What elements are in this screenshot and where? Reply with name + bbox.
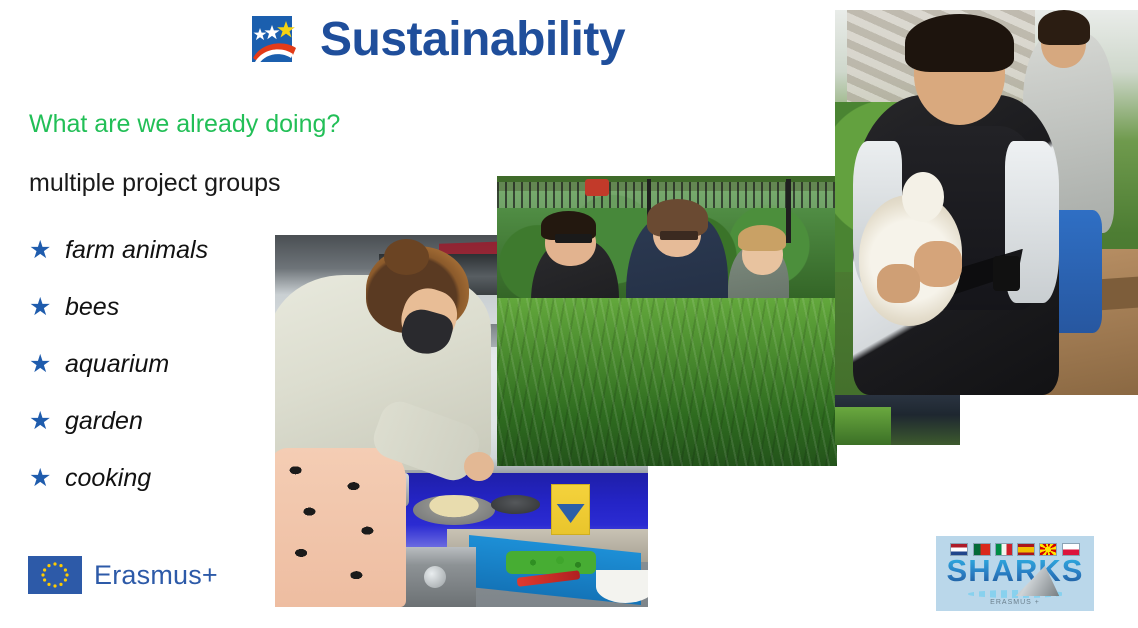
slide-canvas: Sustainability What are we already doing… [0, 0, 1138, 628]
title-row: Sustainability [246, 14, 625, 66]
list-item: ★ aquarium [29, 336, 208, 393]
list-item-label: garden [65, 407, 143, 436]
sharks-project-logo: SHARKS ERASMUS + [936, 536, 1094, 611]
chicken-photo-overflow [835, 395, 960, 445]
list-item-label: aquarium [65, 350, 169, 379]
chicken-photo [835, 10, 1138, 395]
list-item-label: bees [65, 293, 119, 322]
star-bullet-icon: ★ [29, 466, 51, 491]
project-group-list: ★ farm animals ★ bees ★ aquarium ★ garde… [29, 222, 208, 507]
sharks-wordmark: SHARKS [936, 553, 1094, 589]
sharks-subtitle: ERASMUS + [936, 599, 1094, 606]
list-item: ★ garden [29, 393, 208, 450]
subheading-text: multiple project groups [29, 168, 281, 198]
list-item: ★ bees [29, 279, 208, 336]
star-arc-logo-icon [246, 14, 302, 66]
page-title: Sustainability [320, 16, 625, 64]
star-bullet-icon: ★ [29, 295, 51, 320]
farm-animals-photo [497, 176, 837, 466]
star-bullet-icon: ★ [29, 352, 51, 377]
list-item-label: farm animals [65, 236, 208, 265]
section-heading: What are we already doing? [29, 109, 340, 139]
eu-flag-icon [28, 556, 82, 594]
star-bullet-icon: ★ [29, 238, 51, 263]
list-item: ★ cooking [29, 450, 208, 507]
list-item: ★ farm animals [29, 222, 208, 279]
erasmus-wordmark: Erasmus+ [94, 560, 218, 591]
star-bullet-icon: ★ [29, 409, 51, 434]
list-item-label: cooking [65, 464, 151, 493]
erasmus-plus-logo: Erasmus+ [28, 556, 218, 594]
